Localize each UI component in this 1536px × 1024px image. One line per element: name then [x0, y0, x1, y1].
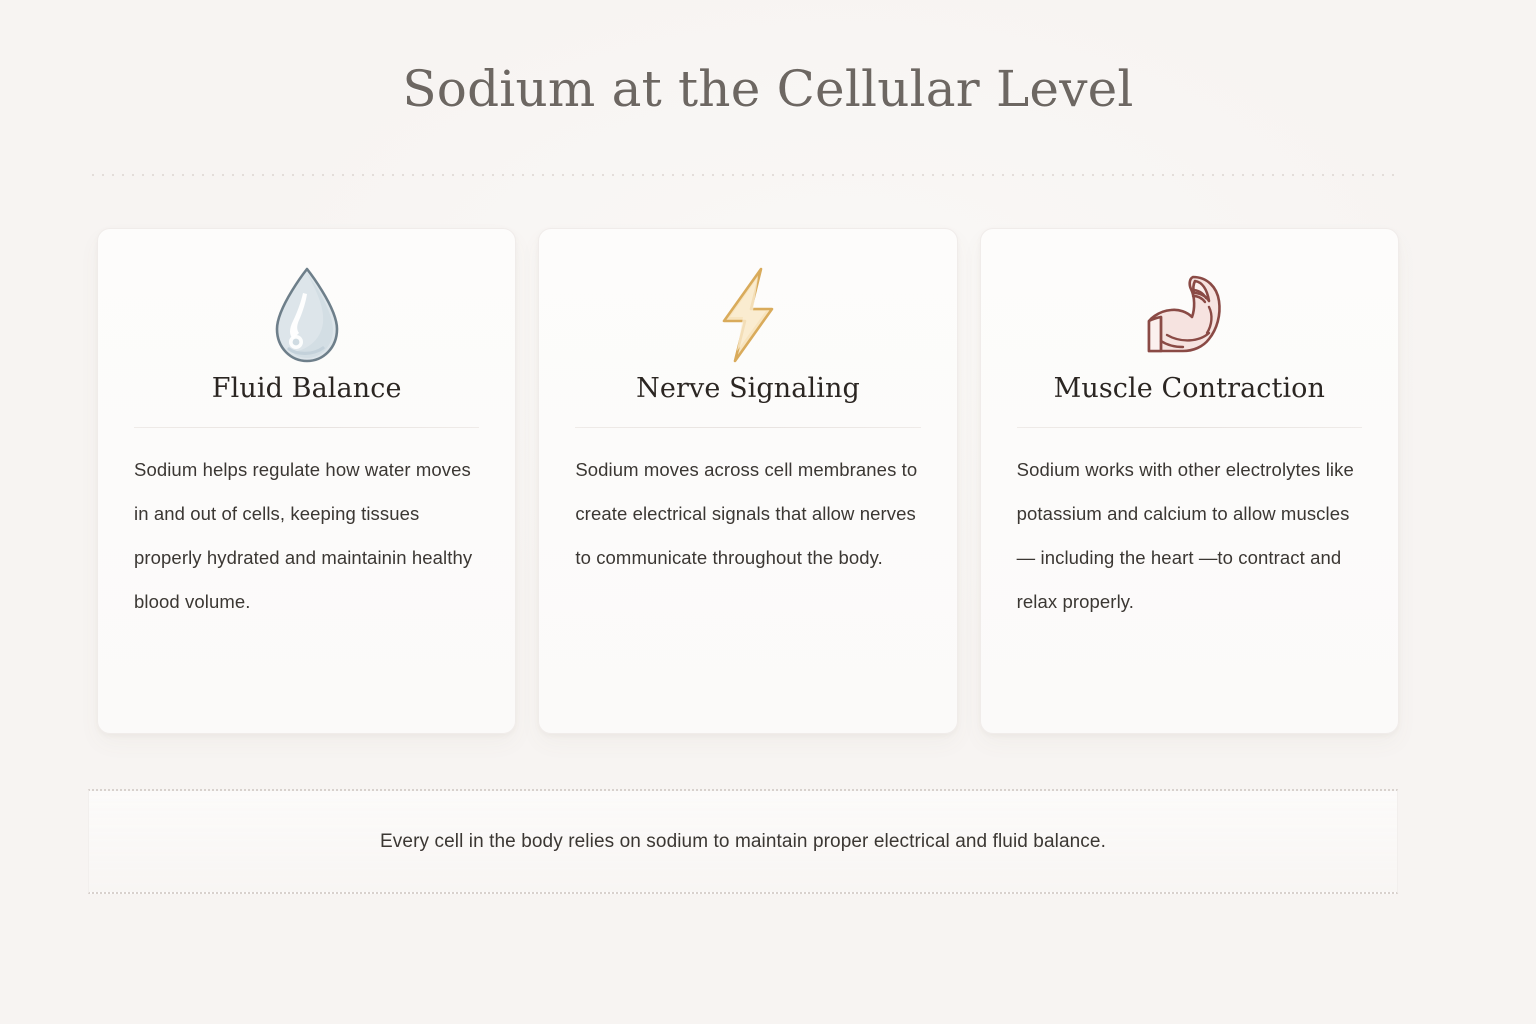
card-fluid-balance[interactable]: Fluid Balance Sodium helps regulate how …	[97, 228, 516, 734]
card-title: Fluid Balance	[212, 373, 402, 405]
page-header: Sodium at the Cellular Level	[0, 62, 1536, 117]
page-title: Sodium at the Cellular Level	[0, 62, 1536, 117]
page-root: Sodium at the Cellular Level Fluid Balan…	[0, 0, 1536, 1024]
card-grid: Fluid Balance Sodium helps regulate how …	[97, 228, 1399, 734]
card-body-text: Sodium works with other electrolytes lik…	[1017, 448, 1362, 624]
header-dotted-divider	[88, 174, 1398, 176]
card-title: Nerve Signaling	[636, 373, 860, 405]
card-divider	[1017, 427, 1362, 428]
flexed-biceps-icon	[1137, 263, 1241, 367]
lightning-bolt-icon	[706, 263, 790, 367]
card-divider	[134, 427, 479, 428]
footer-note-text: Every cell in the body relies on sodium …	[380, 831, 1106, 853]
card-body-text: Sodium helps regulate how water moves in…	[134, 448, 479, 624]
water-droplet-icon	[265, 263, 349, 367]
card-body-text: Sodium moves across cell membranes to cr…	[575, 448, 920, 580]
card-muscle-contraction[interactable]: Muscle Contraction Sodium works with oth…	[980, 228, 1399, 734]
card-title: Muscle Contraction	[1054, 373, 1325, 405]
footer-note-box: Every cell in the body relies on sodium …	[88, 789, 1398, 894]
card-divider	[575, 427, 920, 428]
card-nerve-signaling[interactable]: Nerve Signaling Sodium moves across cell…	[538, 228, 957, 734]
